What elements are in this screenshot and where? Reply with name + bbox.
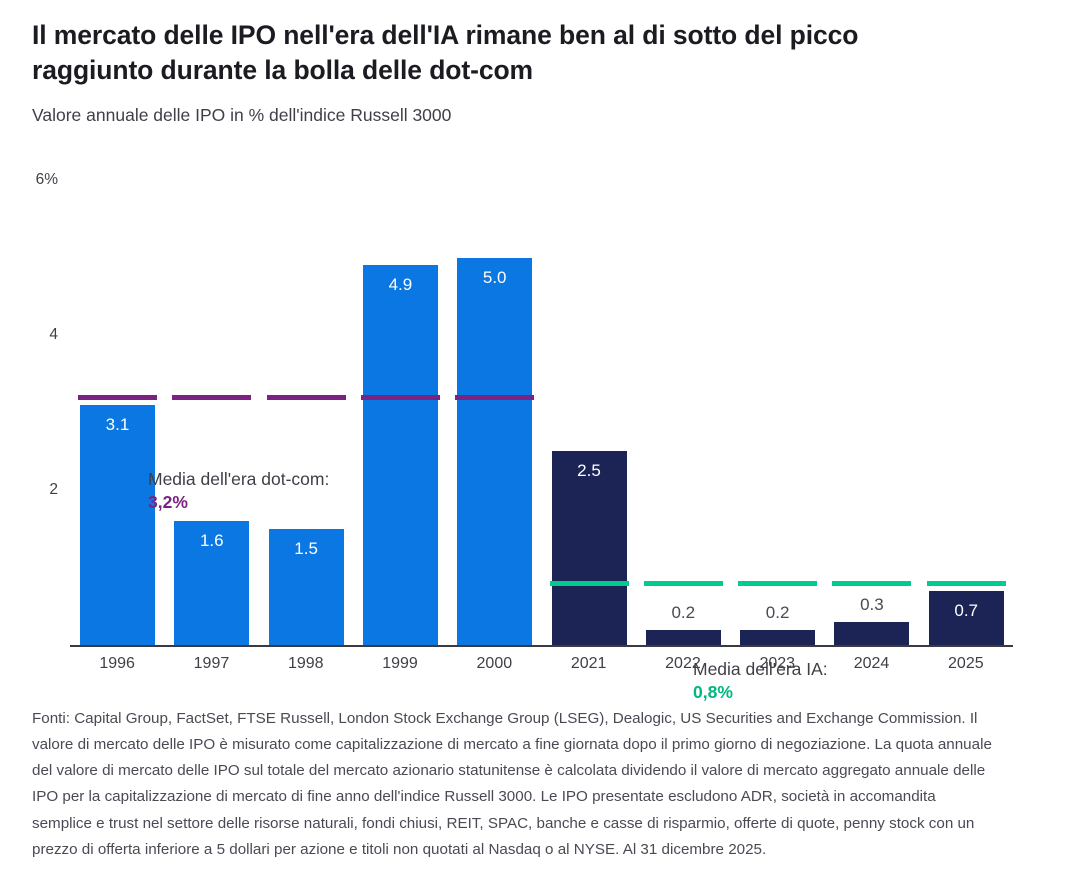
bar-group: 0.7 xyxy=(919,160,1013,645)
chart-header: Il mercato delle IPO nell'era dell'IA ri… xyxy=(32,18,1032,127)
dotcom-average-line-segment xyxy=(78,395,157,400)
ai-average-line-segment xyxy=(832,581,911,586)
bar-value-label: 4.9 xyxy=(363,276,438,293)
bar-value-label: 5.0 xyxy=(457,269,532,286)
bar-group: 3.1 xyxy=(70,160,164,645)
bar[interactable] xyxy=(834,622,909,645)
chart-page: Il mercato delle IPO nell'era dell'IA ri… xyxy=(0,0,1077,888)
x-axis-label: 1997 xyxy=(164,656,258,672)
bar-value-label: 1.5 xyxy=(269,540,344,557)
bar-value-label: 0.2 xyxy=(646,604,721,621)
bar[interactable] xyxy=(363,265,438,645)
dotcom-average-line-segment xyxy=(455,395,534,400)
bar[interactable] xyxy=(457,258,532,646)
x-axis-baseline xyxy=(70,645,1013,647)
bar[interactable] xyxy=(740,630,815,646)
ai-average-line-segment xyxy=(550,581,629,586)
bar-group: 0.3 xyxy=(824,160,918,645)
bar-group: 5.0 xyxy=(447,160,541,645)
bar-value-label: 1.6 xyxy=(174,532,249,549)
dotcom-average-line-segment xyxy=(172,395,251,400)
bar-value-label: 2.5 xyxy=(552,462,627,479)
page-title: Il mercato delle IPO nell'era dell'IA ri… xyxy=(32,18,982,88)
x-axis-label: 2025 xyxy=(919,656,1013,672)
x-axis-label: 1996 xyxy=(70,656,164,672)
annotation-dotcom-value: 3,2% xyxy=(148,492,188,512)
annotation-ai-text: Media dell'era IA: xyxy=(693,659,828,679)
bar-value-label: 0.2 xyxy=(740,604,815,621)
bar-chart: 6%42 3.11.61.54.95.02.50.20.20.30.7 1996… xyxy=(0,160,1077,690)
bar-group: 4.9 xyxy=(353,160,447,645)
bar[interactable] xyxy=(552,451,627,645)
bar-value-label: 0.3 xyxy=(834,596,909,613)
annotation-dotcom-text: Media dell'era dot-com: xyxy=(148,469,329,489)
annotation-ai-average: Media dell'era IA: 0,8% xyxy=(693,658,923,704)
chart-footnote: Fonti: Capital Group, FactSet, FTSE Russ… xyxy=(32,706,998,863)
bar-group: 1.6 xyxy=(164,160,258,645)
bar[interactable] xyxy=(80,405,155,645)
x-axis-label: 2000 xyxy=(447,656,541,672)
x-axis-label: 1998 xyxy=(259,656,353,672)
annotation-dotcom-average: Media dell'era dot-com: 3,2% xyxy=(148,468,338,514)
bar-value-label: 0.7 xyxy=(929,602,1004,619)
bar-group: 0.2 xyxy=(636,160,730,645)
ai-average-line-segment xyxy=(644,581,723,586)
annotation-ai-value: 0,8% xyxy=(693,682,733,702)
bar[interactable] xyxy=(646,630,721,646)
chart-subtitle: Valore annuale delle IPO in % dell'indic… xyxy=(32,104,1032,127)
x-axis-label: 2021 xyxy=(542,656,636,672)
bar-group: 1.5 xyxy=(259,160,353,645)
x-axis-label: 1999 xyxy=(353,656,447,672)
bar-value-label: 3.1 xyxy=(80,416,155,433)
bar-group: 0.2 xyxy=(730,160,824,645)
bar-series: 3.11.61.54.95.02.50.20.20.30.7 xyxy=(0,160,943,645)
bar-group: 2.5 xyxy=(542,160,636,645)
dotcom-average-line-segment xyxy=(267,395,346,400)
ai-average-line-segment xyxy=(927,581,1006,586)
dotcom-average-line-segment xyxy=(361,395,440,400)
ai-average-line-segment xyxy=(738,581,817,586)
